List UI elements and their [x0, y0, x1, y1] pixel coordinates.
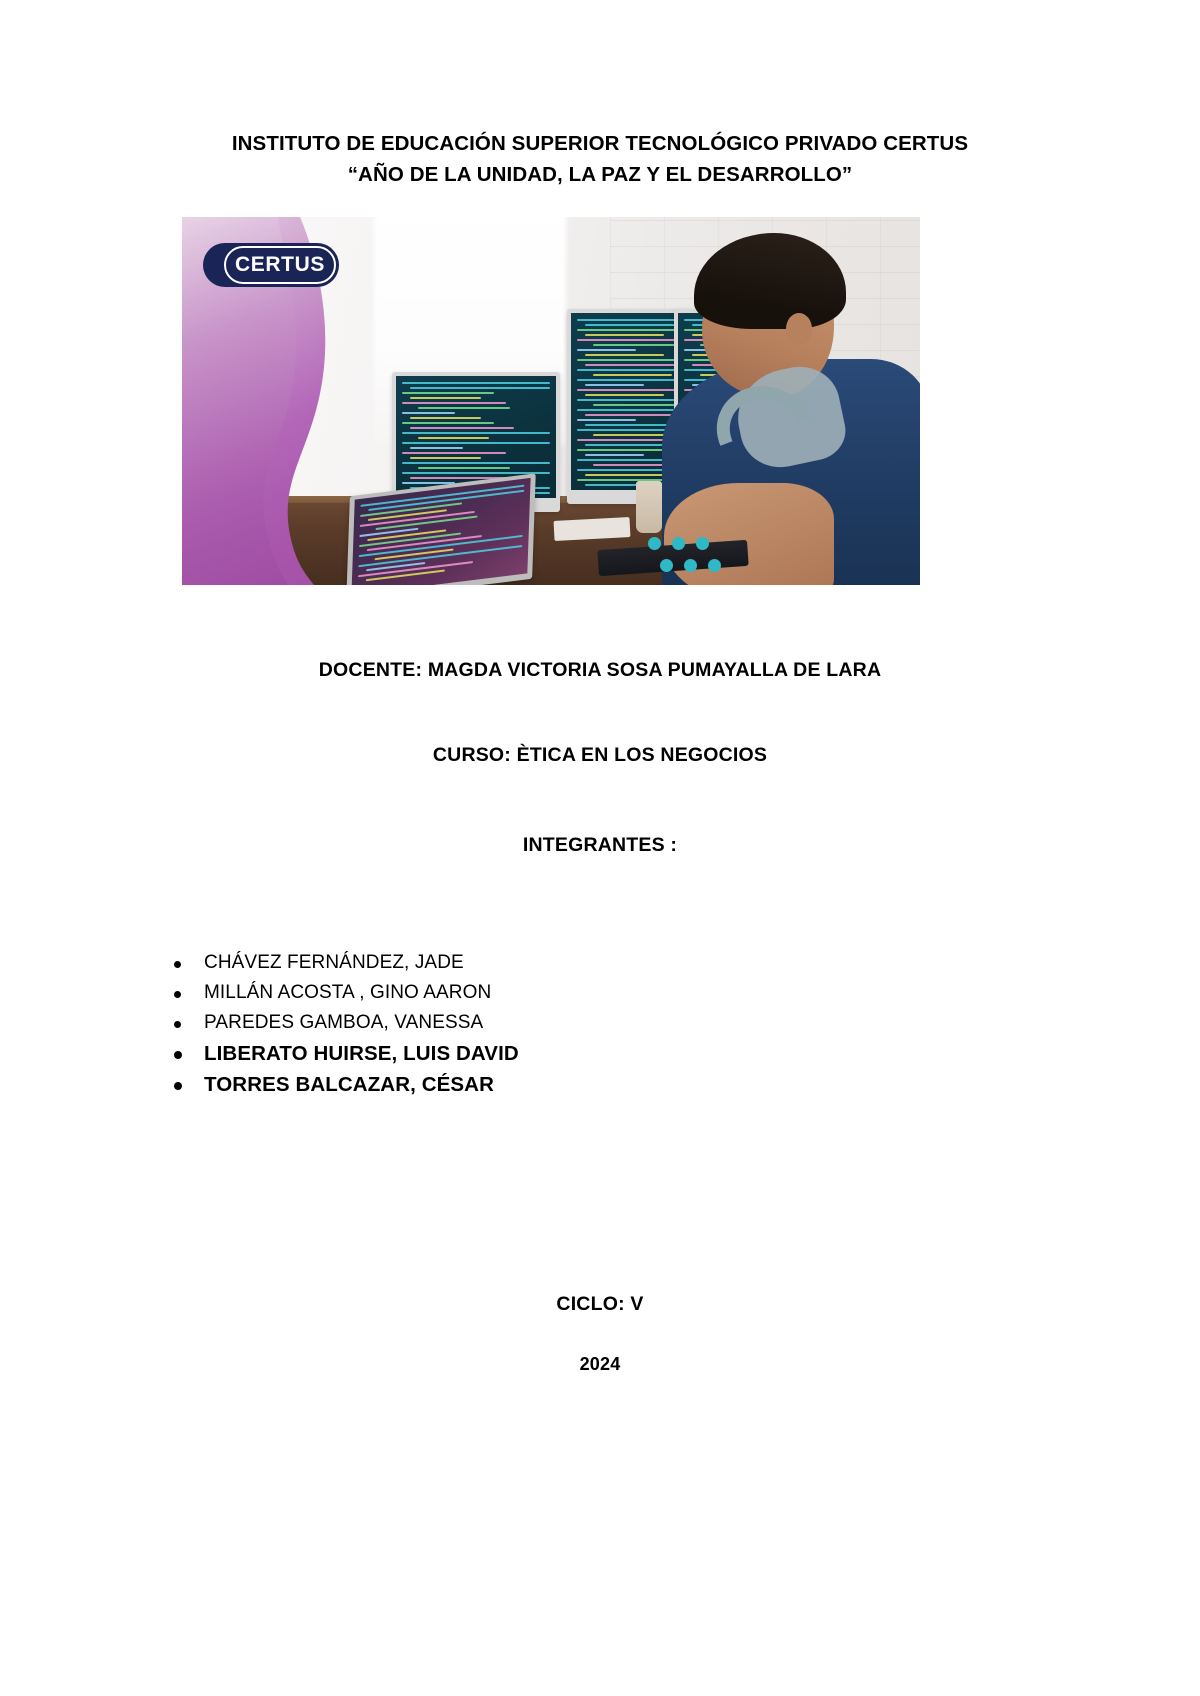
institution-motto-line-2: “AÑO DE LA UNIDAD, LA PAZ Y EL DESARROLL…	[0, 159, 1200, 190]
certus-logo-text: CERTUS	[235, 253, 325, 277]
list-item: MILLÁN ACOSTA , GINO AARON	[160, 978, 860, 1008]
list-item: PAREDES GAMBOA, VANESSA	[160, 1008, 860, 1038]
list-item: CHÁVEZ FERNÁNDEZ, JADE	[160, 948, 860, 978]
certus-logo-outline: CERTUS	[224, 246, 336, 284]
docente-line: DOCENTE: MAGDA VICTORIA SOSA PUMAYALLA D…	[0, 659, 1200, 682]
hero-coffee-cup	[636, 481, 662, 533]
list-item: TORRES BALCAZAR, CÉSAR	[160, 1069, 860, 1100]
document-page: INSTITUTO DE EDUCACIÓN SUPERIOR TECNOLÓG…	[0, 0, 1200, 1696]
hero-laptop-screen	[351, 478, 530, 585]
cover-hero-image: CERTUS	[182, 217, 920, 585]
ciclo-line: CICLO: V	[0, 1293, 1200, 1316]
hero-teal-dots-decoration	[642, 533, 762, 579]
hero-papers	[554, 517, 631, 541]
members-list: CHÁVEZ FERNÁNDEZ, JADE MILLÁN ACOSTA , G…	[160, 948, 860, 1100]
code-lines	[358, 485, 525, 585]
list-item: LIBERATO HUIRSE, LUIS DAVID	[160, 1038, 860, 1069]
integrantes-label: INTEGRANTES :	[0, 834, 1200, 857]
hero-person-ear	[786, 313, 812, 345]
year-line: 2024	[0, 1354, 1200, 1375]
certus-logo: CERTUS	[203, 243, 339, 287]
curso-line: CURSO: ÈTICA EN LOS NEGOCIOS	[0, 744, 1200, 767]
document-header: INSTITUTO DE EDUCACIÓN SUPERIOR TECNOLÓG…	[0, 128, 1200, 190]
institution-title-line-1: INSTITUTO DE EDUCACIÓN SUPERIOR TECNOLÓG…	[0, 128, 1200, 159]
